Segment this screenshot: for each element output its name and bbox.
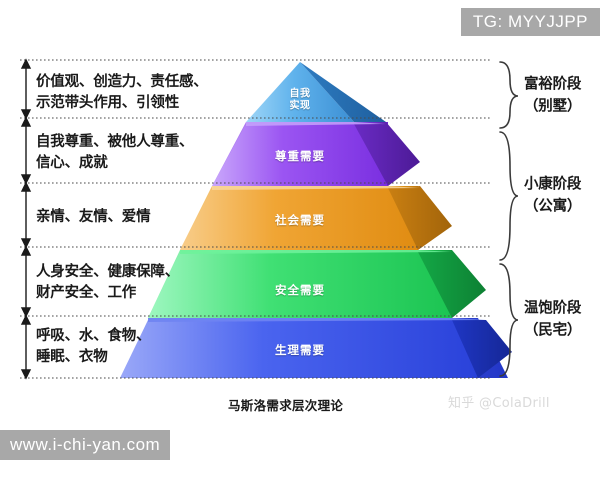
description-line2: 财产安全、工作 xyxy=(36,283,179,304)
stage-name: 温饱阶段 xyxy=(524,298,581,320)
brace-wealthy xyxy=(500,62,518,128)
height-arrow-safety-needs xyxy=(22,247,30,316)
stage-housing: （公寓） xyxy=(524,196,581,218)
description-self-actualization: 价值观、创造力、责任感、 示范带头作用、引领性 xyxy=(36,72,208,114)
pyramid-level-safety-needs xyxy=(148,250,486,318)
stage-housing: （别墅） xyxy=(524,96,581,118)
brace-moderately-well-off xyxy=(500,132,518,260)
description-line1: 亲情、友情、爱情 xyxy=(36,207,150,228)
description-line1: 价值观、创造力、责任感、 xyxy=(36,72,208,93)
stage-label-subsistence: 温饱阶段 （民宅） xyxy=(524,298,581,342)
description-safety-needs: 人身安全、健康保障、 财产安全、工作 xyxy=(36,262,179,304)
height-arrow-social-needs xyxy=(22,183,30,247)
description-line2: 示范带头作用、引领性 xyxy=(36,93,208,114)
pyramid-level-self-actualization xyxy=(246,62,386,122)
stage-name: 富裕阶段 xyxy=(524,74,581,96)
description-social-needs: 亲情、友情、爱情 xyxy=(36,207,150,228)
stage-label-wealthy: 富裕阶段 （别墅） xyxy=(524,74,581,118)
height-arrow-esteem-needs xyxy=(22,118,30,183)
stage-name: 小康阶段 xyxy=(524,174,581,196)
stage-housing: （民宅） xyxy=(524,320,581,342)
description-line2: 睡眠、衣物 xyxy=(36,347,150,368)
stage-label-moderately-well-off: 小康阶段 （公寓） xyxy=(524,174,581,218)
diagram-caption: 马斯洛需求层次理论 xyxy=(228,395,343,414)
description-line2: 信心、成就 xyxy=(36,153,193,174)
pyramid-level-esteem-needs xyxy=(212,122,420,186)
height-arrow-physiological-needs xyxy=(22,316,30,378)
description-physiological-needs: 呼吸、水、食物、 睡眠、衣物 xyxy=(36,326,150,368)
site-url-watermark-badge: www.i-chi-yan.com xyxy=(0,430,170,460)
level-height-arrows xyxy=(22,60,30,378)
pyramid-level-physiological-needs xyxy=(120,318,512,378)
zhihu-watermark: 知乎 @ColaDrill xyxy=(448,392,550,411)
description-line1: 自我尊重、被他人尊重、 xyxy=(36,132,193,153)
description-esteem-needs: 自我尊重、被他人尊重、 信心、成就 xyxy=(36,132,193,174)
description-line1: 呼吸、水、食物、 xyxy=(36,326,150,347)
maslow-pyramid-infographic: 自我 实现 尊重需要 社会需要 安全需要 生理需要 价值观、创造力、责任感、 示… xyxy=(0,0,600,480)
stage-braces xyxy=(500,62,518,376)
height-arrow-self-actualization xyxy=(22,60,30,118)
brace-subsistence xyxy=(500,264,518,376)
description-line1: 人身安全、健康保障、 xyxy=(36,262,179,283)
pyramid-level-social-needs xyxy=(180,186,452,250)
telegram-watermark-badge: TG: MYYJJPP xyxy=(461,8,600,36)
